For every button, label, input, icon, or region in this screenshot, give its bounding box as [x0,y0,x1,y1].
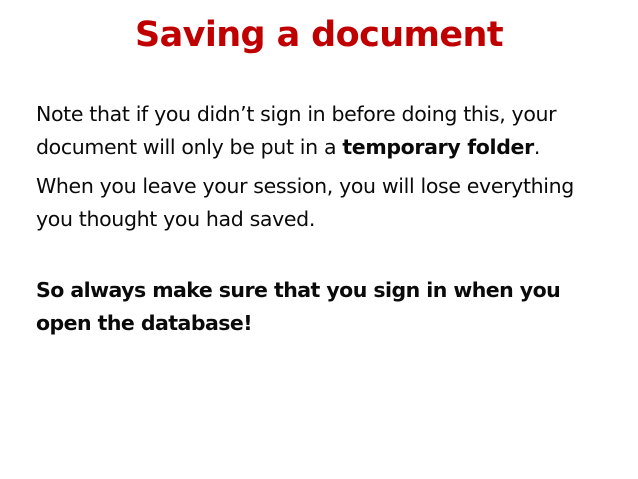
body-paragraph-2: When you leave your session, you will lo… [36,170,616,236]
slide-title: Saving a document [0,14,638,56]
body-paragraph-1: Note that if you didn’t sign in before d… [36,98,616,164]
slide-body: Note that if you didn’t sign in before d… [36,98,616,340]
paragraph-1-run-period: . [534,135,540,159]
paragraph-1-run-bold: temporary folder [342,135,534,159]
presentation-slide: Saving a document Note that if you didn’… [0,0,638,479]
body-paragraph-3: So always make sure that you sign in whe… [36,274,616,340]
